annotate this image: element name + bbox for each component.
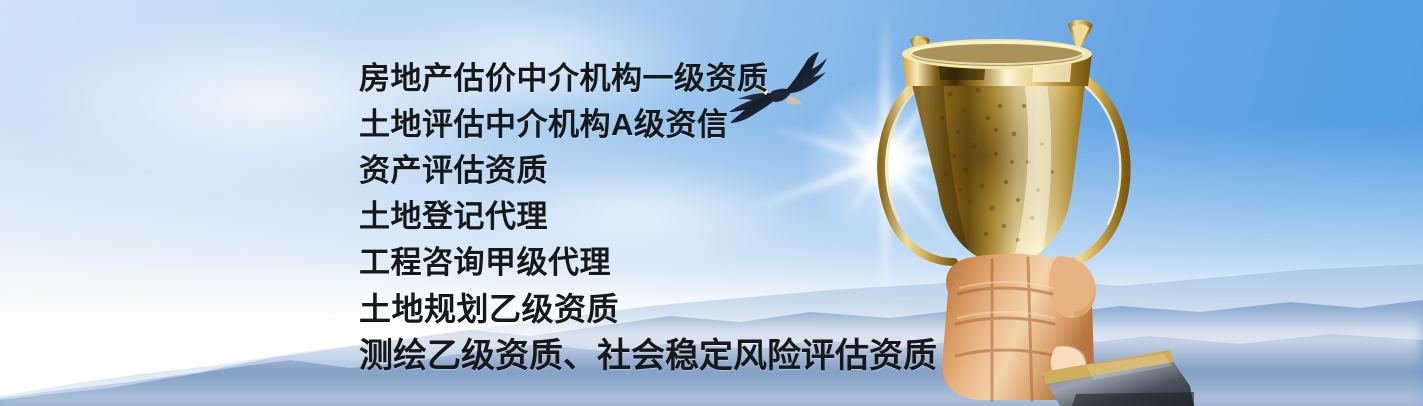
promotional-banner: 房地产估价中介机构一级资质 土地评估中介机构A级资信 资产评估资质 土地登记代理…: [0, 0, 1423, 406]
headline-line-3: 资产评估资质: [359, 148, 1119, 194]
headline-line-6: 土地规划乙级资质: [359, 286, 1119, 333]
headline-line-1: 房地产估价中介机构一级资质: [359, 56, 1119, 102]
headline-line-2: 土地评估中介机构A级资信: [359, 102, 1119, 148]
headline-line-7: 测绘乙级资质、社会稳定风险评估资质: [359, 333, 1119, 380]
headline-line-5: 工程咨询甲级代理: [359, 240, 1119, 286]
headline-block: 房地产估价中介机构一级资质 土地评估中介机构A级资信 资产评估资质 土地登记代理…: [359, 56, 1119, 380]
headline-line-4: 土地登记代理: [359, 194, 1119, 240]
